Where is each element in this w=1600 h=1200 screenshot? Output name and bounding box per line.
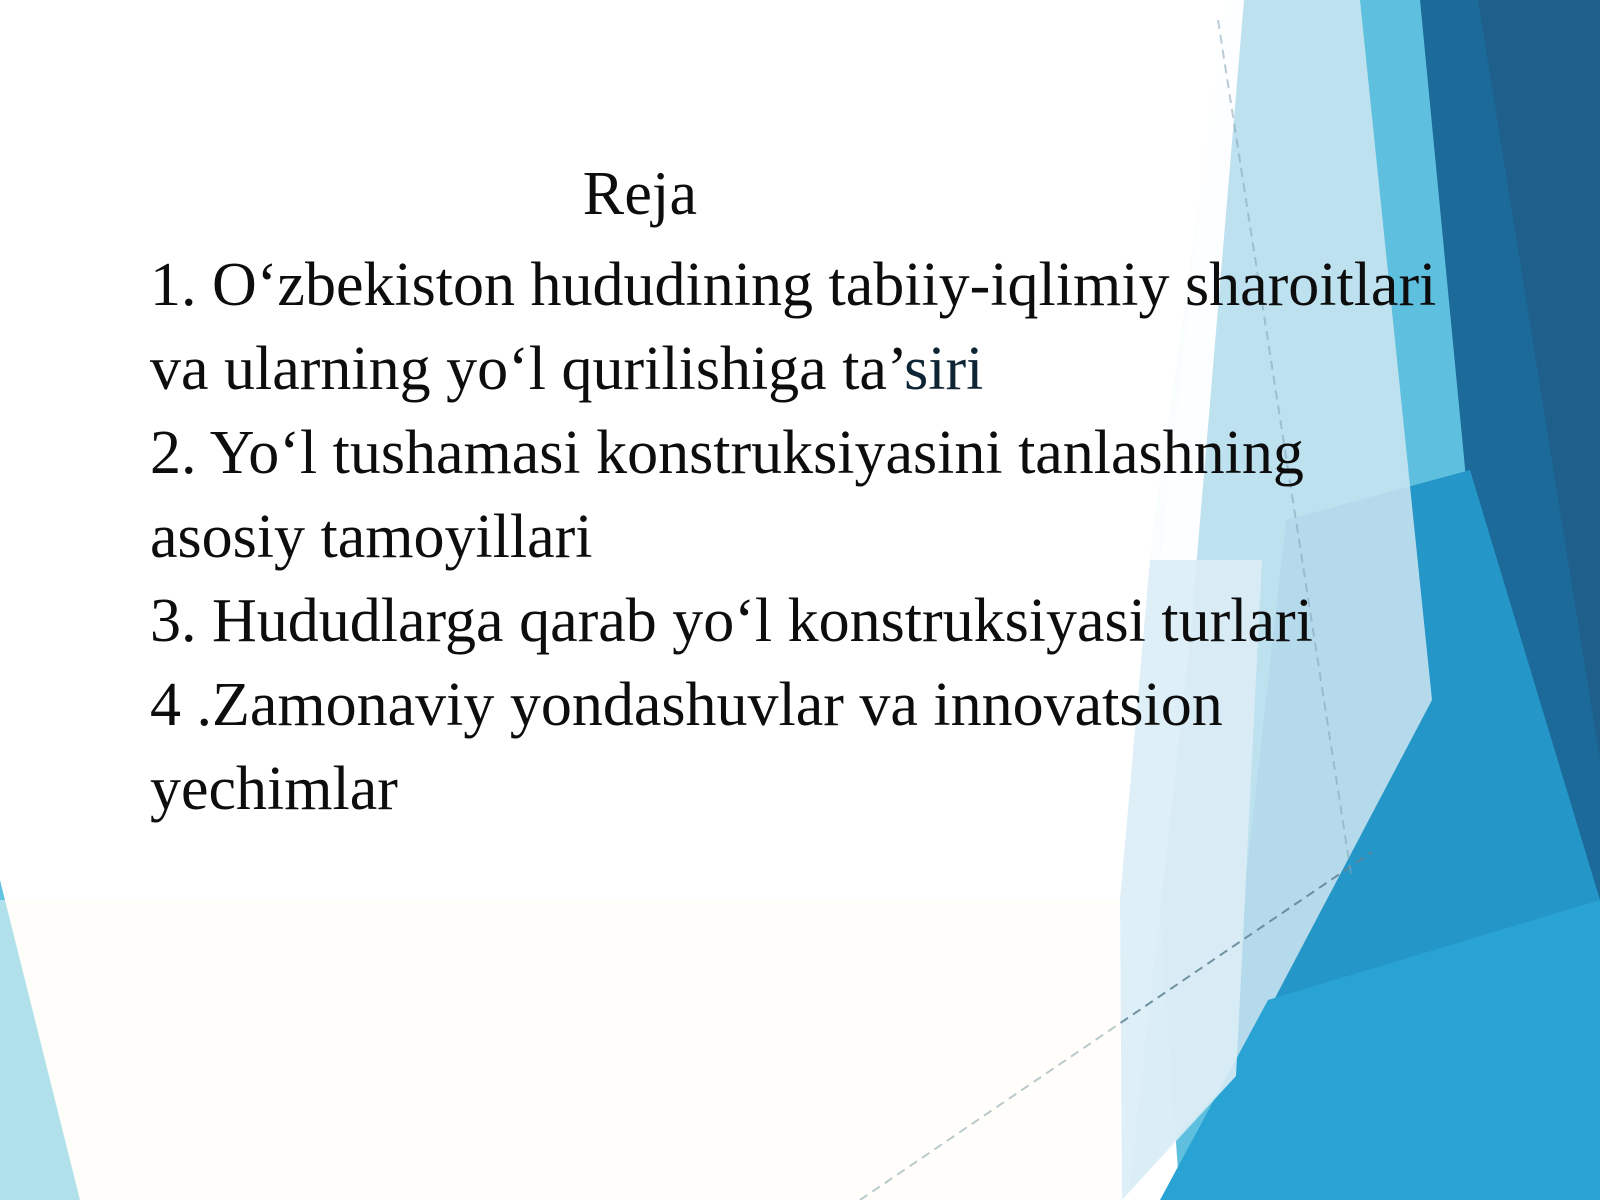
agenda-item-4-head: 4 .	[150, 671, 212, 739]
agenda-item-2: 2. Yo‘l tushamasi konstruksiyasini tanla…	[150, 411, 1440, 579]
agenda-item-1: 1. O‘zbekiston hududining tabiiy-iqlimiy…	[150, 243, 1440, 411]
agenda-item-1-tail: siri	[904, 335, 983, 403]
agenda-item-3: 3. Hududlarga qarab yo‘l konstruksiyasi …	[150, 579, 1440, 663]
slide-title: Reja	[150, 163, 1130, 226]
agenda-item-3-text: Hududlarga qarab yo‘l konstruksiyasi tur…	[212, 587, 1313, 655]
slide-content: Reja 1. O‘zbekiston hududining tabiiy-iq…	[0, 0, 1600, 1200]
presentation-slide: Reja 1. O‘zbekiston hududining tabiiy-iq…	[0, 0, 1600, 1200]
agenda-item-2-head: 2.	[150, 419, 197, 487]
agenda-list: 1. O‘zbekiston hududining tabiiy-iqlimiy…	[150, 243, 1440, 831]
agenda-item-4-text: Zamonaviy yondashuvlar va innovatsion ye…	[150, 671, 1223, 823]
agenda-item-1-head: 1.	[150, 251, 197, 319]
agenda-item-2-text: Yo‘l tushamasi konstruksiyasini tanlashn…	[150, 419, 1304, 571]
agenda-item-1-text: O‘zbekiston hududining tabiiy-iqlimiy sh…	[150, 251, 1436, 403]
agenda-item-3-head: 3.	[150, 587, 197, 655]
agenda-item-4: 4 .Zamonaviy yondashuvlar va innovatsion…	[150, 663, 1440, 831]
